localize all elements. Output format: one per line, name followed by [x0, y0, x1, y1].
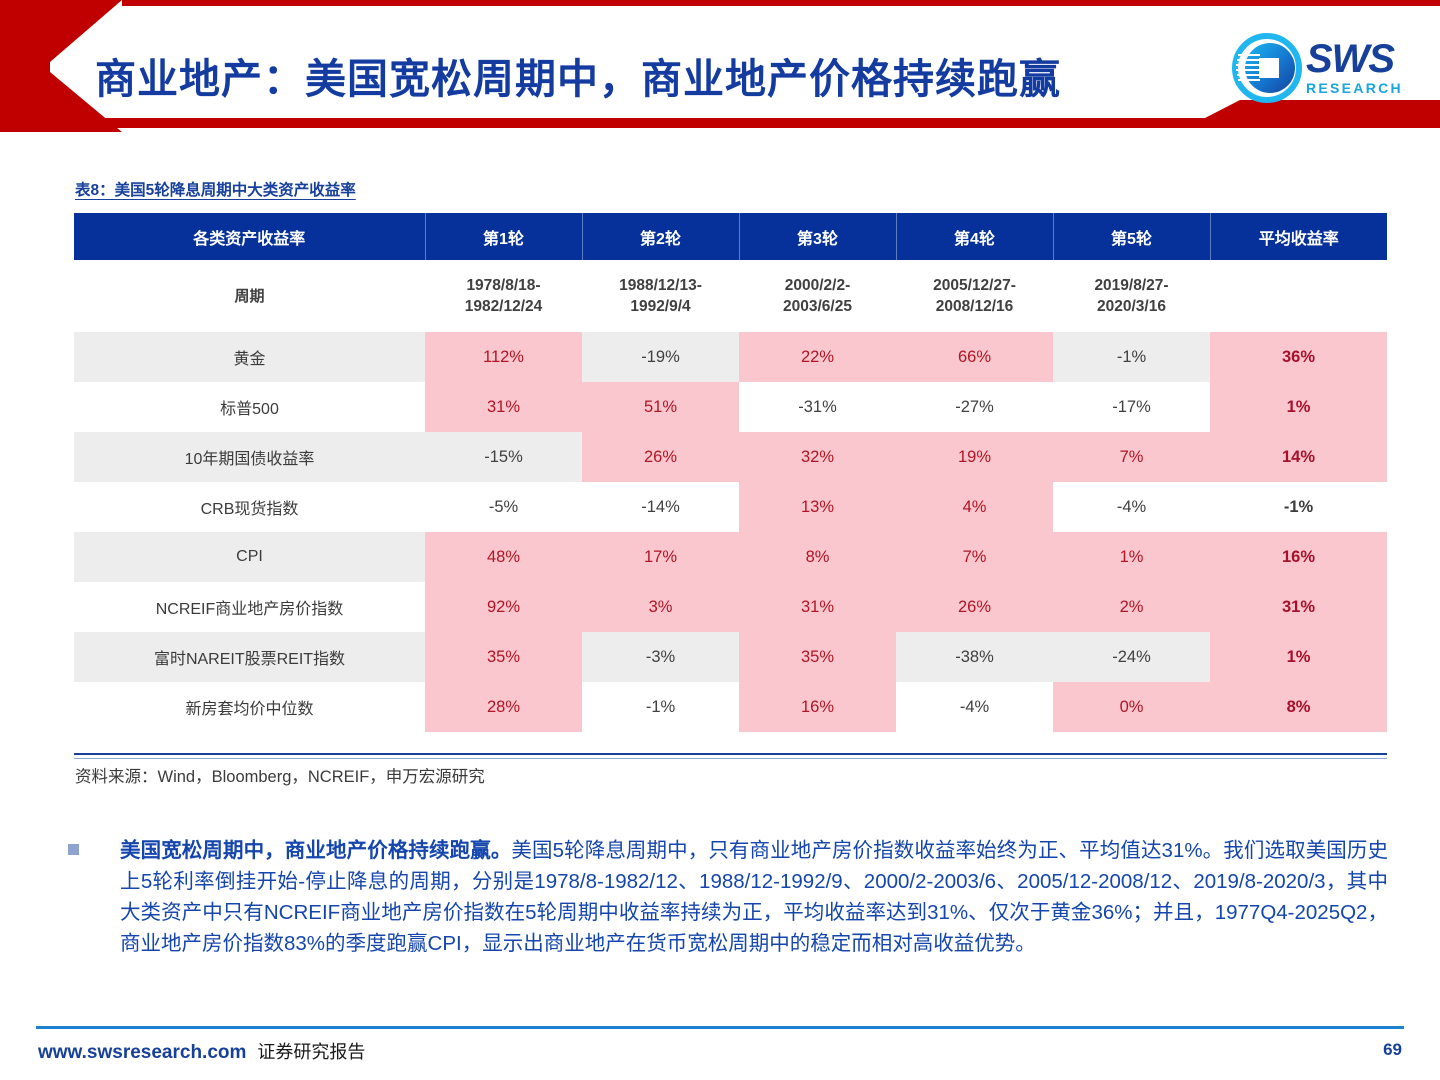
period-round3: 2000/2/2- 2003/6/25: [739, 260, 896, 332]
cell-round1: 112%: [425, 332, 582, 382]
col-header-round2: 第2轮: [582, 213, 739, 260]
cell-round4: 19%: [896, 432, 1053, 482]
cell-round2: 26%: [582, 432, 739, 482]
cell-round5: -24%: [1053, 632, 1210, 682]
table-row: 周期 1978/8/18- 1982/12/24 1988/12/13- 199…: [74, 260, 1387, 332]
row-label: 10年期国债收益率: [74, 432, 425, 482]
cell-average: 36%: [1210, 332, 1387, 382]
cell-round4: -38%: [896, 632, 1053, 682]
cell-round5: -4%: [1053, 482, 1210, 532]
period-average: [1210, 260, 1387, 332]
cell-round1: -5%: [425, 482, 582, 532]
cell-round3: 32%: [739, 432, 896, 482]
row-label: 富时NAREIT股票REIT指数: [74, 632, 425, 682]
col-header-round3: 第3轮: [739, 213, 896, 260]
cell-round5: 0%: [1053, 682, 1210, 732]
footer-label: 证券研究报告: [257, 1042, 365, 1062]
table-body: 黄金112%-19%22%66%-1%36%标普50031%51%-31%-27…: [74, 332, 1387, 732]
cell-round1: -15%: [425, 432, 582, 482]
cell-round4: -27%: [896, 382, 1053, 432]
period-round4: 2005/12/27- 2008/12/16: [896, 260, 1053, 332]
table-row: NCREIF商业地产房价指数92%3%31%26%2%31%: [74, 582, 1387, 632]
footer-rule: [36, 1026, 1404, 1029]
period-label: 周期: [74, 260, 425, 332]
table-caption: 表8：美国5轮降息周期中大类资产收益率: [75, 178, 356, 200]
cell-average: 1%: [1210, 382, 1387, 432]
cell-average: 31%: [1210, 582, 1387, 632]
table-head: 各类资产收益率 第1轮 第2轮 第3轮 第4轮 第5轮 平均收益率: [74, 213, 1387, 260]
cell-round4: 26%: [896, 582, 1053, 632]
cell-average: 16%: [1210, 532, 1387, 582]
cell-round2: -19%: [582, 332, 739, 382]
cell-round4: 4%: [896, 482, 1053, 532]
cell-round4: 66%: [896, 332, 1053, 382]
cell-round3: 22%: [739, 332, 896, 382]
sws-wordmark: SWS: [1306, 39, 1403, 79]
cell-round5: 1%: [1053, 532, 1210, 582]
table-row: 标普50031%51%-31%-27%-17%1%: [74, 382, 1387, 432]
footer-left: www.swsresearch.com证券研究报告: [38, 1038, 365, 1064]
cell-round2: -3%: [582, 632, 739, 682]
table-header-row: 各类资产收益率 第1轮 第2轮 第3轮 第4轮 第5轮 平均收益率: [74, 213, 1387, 260]
sws-logo-mark: [1232, 33, 1302, 103]
page-banner: 商业地产：美国宽松周期中，商业地产价格持续跑赢: [0, 0, 1440, 145]
cell-round1: 31%: [425, 382, 582, 432]
cell-round2: -1%: [582, 682, 739, 732]
cell-round2: 3%: [582, 582, 739, 632]
cell-round5: 7%: [1053, 432, 1210, 482]
cell-round2: 17%: [582, 532, 739, 582]
cell-round4: 7%: [896, 532, 1053, 582]
row-label: 黄金: [74, 332, 425, 382]
table-row: 新房套均价中位数28%-1%16%-4%0%8%: [74, 682, 1387, 732]
commentary-text: 美国宽松周期中，商业地产价格持续跑赢。美国5轮降息周期中，只有商业地产房价指数收…: [120, 835, 1388, 959]
row-label: NCREIF商业地产房价指数: [74, 582, 425, 632]
cell-round2: 51%: [582, 382, 739, 432]
page-title: 商业地产：美国宽松周期中，商业地产价格持续跑赢: [95, 45, 1061, 105]
cell-average: -1%: [1210, 482, 1387, 532]
cell-average: 14%: [1210, 432, 1387, 482]
bullet-square-icon: [68, 844, 79, 855]
col-header-round1: 第1轮: [425, 213, 582, 260]
cell-round3: 13%: [739, 482, 896, 532]
sws-logo: SWS RESEARCH: [1232, 33, 1410, 105]
commentary-block: 美国宽松周期中，商业地产价格持续跑赢。美国5轮降息周期中，只有商业地产房价指数收…: [68, 835, 1388, 959]
sws-logo-text: SWS RESEARCH: [1306, 39, 1403, 96]
cell-round5: -17%: [1053, 382, 1210, 432]
cell-round1: 48%: [425, 532, 582, 582]
page-number: 69: [1383, 1040, 1402, 1060]
table-row: 黄金112%-19%22%66%-1%36%: [74, 332, 1387, 382]
table-row: 富时NAREIT股票REIT指数35%-3%35%-38%-24%1%: [74, 632, 1387, 682]
row-label: 标普500: [74, 382, 425, 432]
table-row: CRB现货指数-5%-14%13%4%-4%-1%: [74, 482, 1387, 532]
cell-round5: 2%: [1053, 582, 1210, 632]
cell-round5: -1%: [1053, 332, 1210, 382]
col-header-average: 平均收益率: [1210, 213, 1387, 260]
cell-round3: 16%: [739, 682, 896, 732]
row-label: 新房套均价中位数: [74, 682, 425, 732]
sws-research-wordmark: RESEARCH: [1306, 80, 1403, 96]
col-header-asset: 各类资产收益率: [74, 213, 425, 260]
row-label: CRB现货指数: [74, 482, 425, 532]
period-round5: 2019/8/27- 2020/3/16: [1053, 260, 1210, 332]
row-label: CPI: [74, 532, 425, 582]
cell-average: 1%: [1210, 632, 1387, 682]
cell-round3: 35%: [739, 632, 896, 682]
table-row: CPI48%17%8%7%1%16%: [74, 532, 1387, 582]
cell-round1: 92%: [425, 582, 582, 632]
cell-round3: 8%: [739, 532, 896, 582]
cell-round3: 31%: [739, 582, 896, 632]
table-row: 10年期国债收益率-15%26%32%19%7%14%: [74, 432, 1387, 482]
table-bottom-rule: [74, 753, 1387, 759]
cell-average: 8%: [1210, 682, 1387, 732]
table-period-body: 周期 1978/8/18- 1982/12/24 1988/12/13- 199…: [74, 260, 1387, 332]
asset-return-table-wrap: 各类资产收益率 第1轮 第2轮 第3轮 第4轮 第5轮 平均收益率 周期 197…: [74, 213, 1387, 732]
table-source: 资料来源：Wind，Bloomberg，NCREIF，申万宏源研究: [75, 763, 485, 787]
col-header-round5: 第5轮: [1053, 213, 1210, 260]
cell-round1: 35%: [425, 632, 582, 682]
cell-round2: -14%: [582, 482, 739, 532]
cell-round3: -31%: [739, 382, 896, 432]
cell-round1: 28%: [425, 682, 582, 732]
col-header-round4: 第4轮: [896, 213, 1053, 260]
period-round2: 1988/12/13- 1992/9/4: [582, 260, 739, 332]
cell-round4: -4%: [896, 682, 1053, 732]
commentary-lead: 美国宽松周期中，商业地产价格持续跑赢。: [120, 839, 511, 862]
period-round1: 1978/8/18- 1982/12/24: [425, 260, 582, 332]
asset-return-table: 各类资产收益率 第1轮 第2轮 第3轮 第4轮 第5轮 平均收益率 周期 197…: [74, 213, 1387, 732]
footer-url[interactable]: www.swsresearch.com: [38, 1042, 246, 1063]
